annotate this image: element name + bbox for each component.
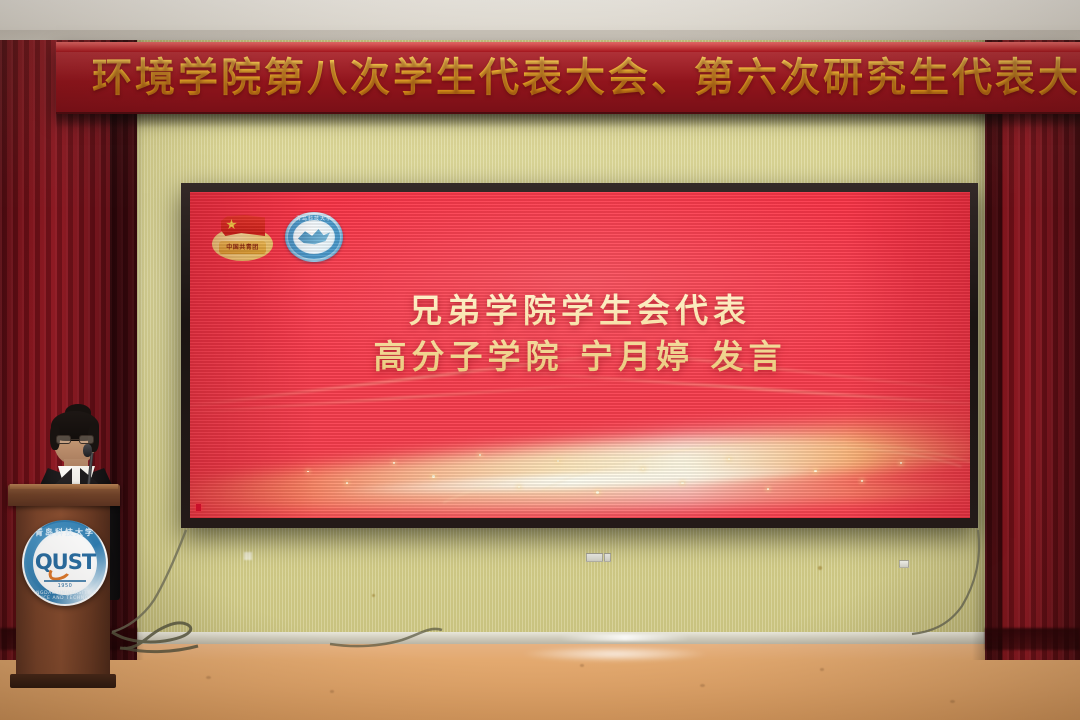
speaker-glasses-icon bbox=[56, 435, 94, 444]
wall-mark-1 bbox=[818, 566, 822, 570]
banner-shadow bbox=[56, 112, 1080, 128]
wall-outlet-plate-3 bbox=[899, 560, 909, 568]
power-led-icon bbox=[196, 504, 201, 511]
seal-divider bbox=[44, 580, 86, 582]
glasses-lens-left bbox=[56, 435, 71, 444]
wall-outlet-plate-1 bbox=[586, 553, 603, 562]
glasses-lens-right bbox=[79, 435, 94, 444]
seal-year: 1950 bbox=[22, 583, 108, 589]
podium-desktop bbox=[8, 484, 120, 506]
glasses-bridge bbox=[71, 439, 79, 440]
floor-speck bbox=[580, 664, 584, 667]
wall-mark-2 bbox=[372, 594, 375, 597]
baseboard-highlight bbox=[560, 634, 690, 641]
microphone-icon bbox=[83, 444, 92, 457]
congress-banner: 环境学院第八次学生代表大会、第六次研究生代表大会 bbox=[56, 42, 1080, 114]
screen-title-line-1: 兄弟学院学生会代表 bbox=[190, 288, 970, 334]
screen-title-line-2: 高分子学院 宁月婷 发言 bbox=[190, 334, 970, 380]
seal-english-name: QINGDAO UNIVERSITY OF SCIENCE AND TECHNO… bbox=[22, 591, 108, 601]
floor-reflection bbox=[520, 646, 710, 662]
wall-highlight bbox=[244, 552, 252, 560]
floor-speck bbox=[700, 684, 705, 687]
led-screen-bezel: 中国共青团 青岛科技大学 兄弟学院学生会代表 高分子学院 宁月婷 发言 bbox=[181, 183, 978, 528]
floor-speck bbox=[330, 690, 334, 693]
led-screen[interactable]: 中国共青团 青岛科技大学 兄弟学院学生会代表 高分子学院 宁月婷 发言 bbox=[190, 192, 970, 518]
floor-speck bbox=[950, 700, 955, 703]
floor-speck bbox=[820, 668, 824, 671]
podium-desktop-edge bbox=[10, 484, 118, 489]
seal-chinese-name: 青岛科技大学 bbox=[22, 527, 108, 538]
banner-title: 环境学院第八次学生代表大会、第六次研究生代表大会 bbox=[92, 48, 1080, 108]
conference-photo: 环境学院第八次学生代表大会、第六次研究生代表大会 bbox=[0, 0, 1080, 720]
floor-speck bbox=[206, 676, 211, 679]
speaking-podium: 青岛科技大学 QUST 1950 QINGDAO UNIVERSITY OF S… bbox=[8, 484, 120, 696]
curtain-right-foot bbox=[985, 628, 1080, 650]
screen-title-block: 兄弟学院学生会代表 高分子学院 宁月婷 发言 bbox=[190, 288, 970, 379]
podium-base bbox=[10, 674, 116, 688]
wall-outlet-plate-2 bbox=[604, 553, 611, 562]
qust-seal-icon: 青岛科技大学 QUST 1950 QINGDAO UNIVERSITY OF S… bbox=[22, 520, 108, 606]
